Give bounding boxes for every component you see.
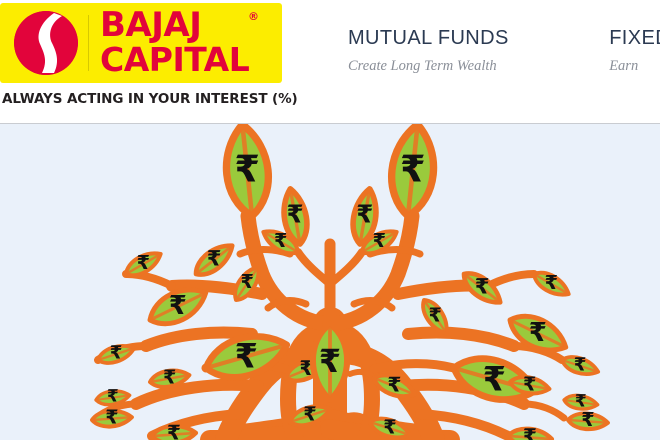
logo-wordmark: BAJAJ ® CAPITAL: [100, 4, 280, 82]
nav-item-title: FIXED: [609, 26, 660, 50]
svg-text:₹: ₹: [373, 229, 386, 252]
svg-text:₹: ₹: [387, 373, 401, 397]
logo-divider: [88, 15, 89, 71]
brand-tagline: ALWAYS ACTING IN YOUR INTEREST (%): [2, 91, 298, 107]
svg-text:₹: ₹: [137, 251, 150, 274]
svg-text:₹: ₹: [110, 343, 123, 364]
site-header: BAJAJ ® CAPITAL ALWAYS ACTING IN YOUR IN…: [0, 0, 660, 124]
svg-text:₹: ₹: [303, 403, 316, 426]
svg-text:₹: ₹: [169, 291, 187, 321]
svg-text:₹: ₹: [234, 147, 260, 190]
svg-text:₹: ₹: [356, 200, 373, 229]
svg-text:₹: ₹: [319, 342, 341, 380]
svg-text:₹: ₹: [400, 147, 426, 190]
svg-text:₹: ₹: [207, 245, 222, 270]
nav-item-subtitle: Create Long Term Wealth: [348, 57, 509, 75]
svg-text:₹: ₹: [429, 303, 442, 326]
svg-text:₹: ₹: [529, 318, 547, 348]
nav-item-mutual-funds[interactable]: MUTUAL FUNDS Create Long Term Wealth: [348, 26, 509, 75]
svg-text:₹: ₹: [107, 387, 119, 407]
logo-line-capital: CAPITAL: [100, 41, 249, 78]
cropped-pointer-line: [0, 124, 120, 244]
svg-text:₹: ₹: [523, 372, 536, 395]
brand-logo[interactable]: BAJAJ ® CAPITAL ALWAYS ACTING IN YOUR IN…: [0, 3, 290, 121]
svg-text:₹: ₹: [475, 274, 490, 299]
svg-text:₹: ₹: [235, 336, 258, 375]
svg-text:₹: ₹: [383, 416, 396, 439]
svg-text:₹: ₹: [483, 359, 506, 398]
svg-text:₹: ₹: [581, 408, 594, 431]
nav-item-subtitle: Earn: [609, 57, 660, 75]
nav-item-title: MUTUAL FUNDS: [348, 26, 509, 50]
nav-item-fixed-deposit[interactable]: FIXED Earn: [609, 26, 660, 75]
svg-text:₹: ₹: [523, 424, 537, 440]
registered-trademark-icon: ®: [248, 10, 259, 23]
svg-text:₹: ₹: [574, 354, 587, 375]
svg-text:₹: ₹: [167, 421, 181, 440]
hero-banner: ₹ ₹ ₹ ₹ ₹ ₹: [0, 124, 660, 440]
primary-nav: MUTUAL FUNDS Create Long Term Wealth FIX…: [348, 26, 660, 86]
svg-text:₹: ₹: [274, 229, 287, 252]
bajaj-emblem-icon: [14, 11, 78, 75]
svg-text:₹: ₹: [105, 405, 118, 428]
page-root: BAJAJ ® CAPITAL ALWAYS ACTING IN YOUR IN…: [0, 0, 660, 440]
svg-text:₹: ₹: [545, 271, 558, 294]
logo-yellow-box: BAJAJ ® CAPITAL: [0, 3, 282, 83]
svg-text:₹: ₹: [241, 270, 254, 293]
svg-text:₹: ₹: [163, 365, 176, 388]
svg-text:₹: ₹: [287, 200, 304, 229]
logo-line-bajaj: BAJAJ: [100, 7, 201, 44]
